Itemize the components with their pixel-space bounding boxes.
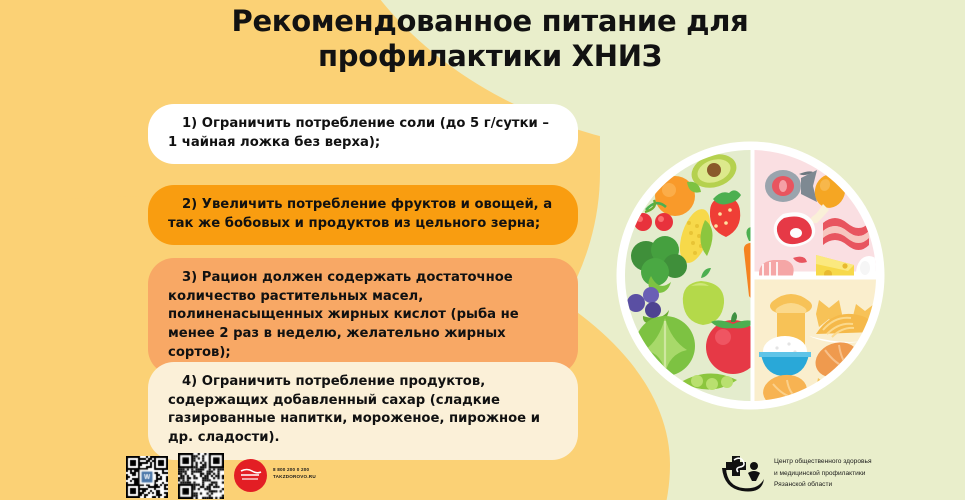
takzdorovo-contacts: 8 800 200 0 200 TAKZDOROVO.RU — [273, 467, 316, 480]
takzdorovo-circle-icon — [234, 459, 267, 492]
takzdorovo-logo[interactable]: 8 800 200 0 200 TAKZDOROVO.RU — [234, 459, 334, 493]
recommendation-text-3: 3) Рацион должен содержать достаточное к… — [168, 269, 558, 363]
poster-canvas: Рекомендованное питание для профилактики… — [0, 0, 965, 500]
recommendation-card-3: 3) Рацион должен содержать достаточное к… — [148, 258, 578, 375]
qr-code-vk[interactable] — [126, 456, 168, 498]
health-center-emblem-icon — [718, 452, 766, 494]
qr-code-plain[interactable] — [178, 453, 224, 499]
organization-name: Центр общественного здоровья и медицинск… — [774, 456, 872, 491]
recommendation-card-2: 2) Увеличить потребление фруктов и овоще… — [148, 185, 578, 245]
salmon-icon — [765, 170, 817, 202]
beef-steak-icon — [774, 212, 816, 247]
recommendation-text-2: 2) Увеличить потребление фруктов и овоще… — [168, 196, 558, 233]
medical-cross-icon — [726, 456, 746, 476]
organization-line-2: и медицинской профилактики — [774, 468, 872, 480]
takzdorovo-phone: 8 800 200 0 200 — [273, 467, 316, 474]
organization-line-1: Центр общественного здоровья — [774, 456, 872, 468]
organization-logo: Центр общественного здоровья и медицинск… — [718, 450, 948, 496]
grain-icons — [759, 294, 883, 410]
recommendation-text-4: 4) Ограничить потребление продуктов, сод… — [168, 373, 558, 448]
person-figure-icon — [748, 462, 760, 481]
organization-line-3: Рязанской области — [774, 479, 872, 491]
healthy-plate-illustration — [613, 138, 888, 413]
recommendation-card-4: 4) Ограничить потребление продуктов, сод… — [148, 362, 578, 460]
takzdorovo-site: TAKZDOROVO.RU — [273, 474, 316, 481]
page-title: Рекомендованное питание для профилактики… — [210, 4, 770, 75]
recommendation-text-1: 1) Ограничить потребление соли (до 5 г/с… — [168, 115, 558, 152]
plate-section-protein — [755, 150, 877, 272]
recommendation-card-1: 1) Ограничить потребление соли (до 5 г/с… — [148, 104, 578, 164]
